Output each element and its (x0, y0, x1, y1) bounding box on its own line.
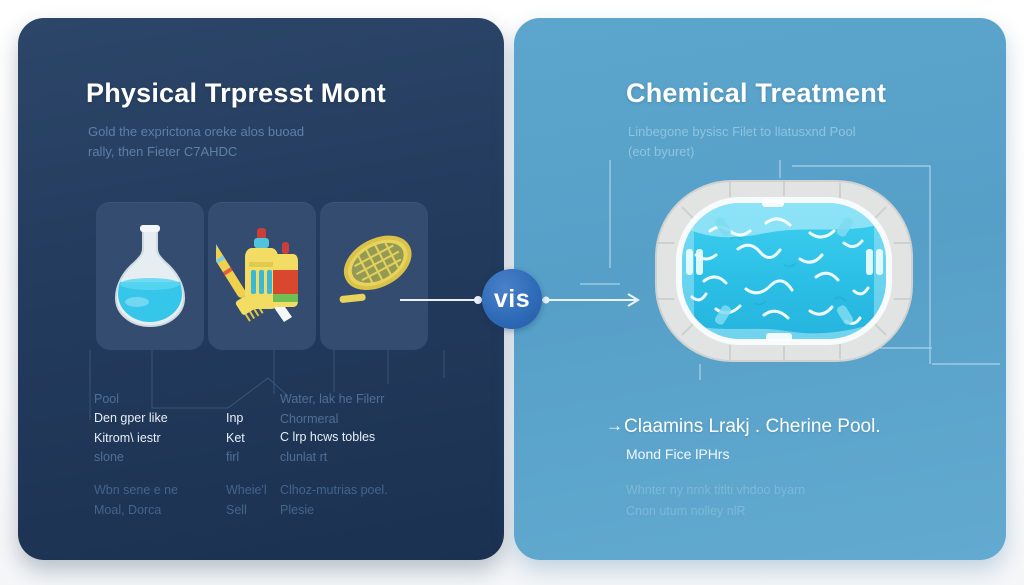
right-sub-text: Mond Fice lPHrs (626, 446, 729, 462)
left-detail-col-a-faint: Pool (94, 390, 244, 410)
infographic-canvas: Physical Trpresst Mont Gold the expricto… (0, 0, 1024, 585)
left-detail-col-c: C lrp hcws tobles (280, 428, 460, 448)
tile-flask[interactable] (96, 202, 204, 350)
pool-illustration (634, 173, 934, 368)
right-panel-title: Chemical Treatment (626, 78, 886, 109)
connector-dot-left (474, 296, 482, 304)
left-detail-row2-a: Wbn sene e ne Moal, Dorca (94, 480, 234, 520)
right-lead-arrow-icon: → (606, 416, 623, 436)
tile-cleaning-supplies[interactable] (208, 202, 316, 350)
right-faint-text: Whnter ny nrnk titlti vhdoo byarn Cnon u… (626, 480, 976, 523)
right-lead-text: Claamins Lrakj . Cherine Pool. (624, 416, 881, 438)
left-panel-title: Physical Trpresst Mont (86, 78, 386, 109)
left-detail-col-a-faint2: slone (94, 448, 244, 468)
left-detail-col-c-faint2: clunlat rt (280, 448, 460, 468)
flow-badge-label: vis (482, 269, 542, 329)
left-detail-col-c-faint: Water, lak he Filerr Chormeral (280, 390, 460, 430)
swimming-pool-top-view-icon (634, 173, 934, 368)
left-detail-row2-c: Clhoz-mutrias poel. Plesie (280, 480, 470, 520)
flask-icon (107, 222, 193, 330)
left-panel-subtitle: Gold the exprictona oreke alos buoad ral… (88, 122, 418, 162)
flow-badge[interactable]: vis (482, 269, 542, 329)
connector-dot-right (543, 297, 550, 304)
right-panel-subtitle: Linbegone bysisc Filet to llatusxnd Pool… (628, 122, 958, 162)
cleaning-bottles-icon (216, 218, 308, 334)
